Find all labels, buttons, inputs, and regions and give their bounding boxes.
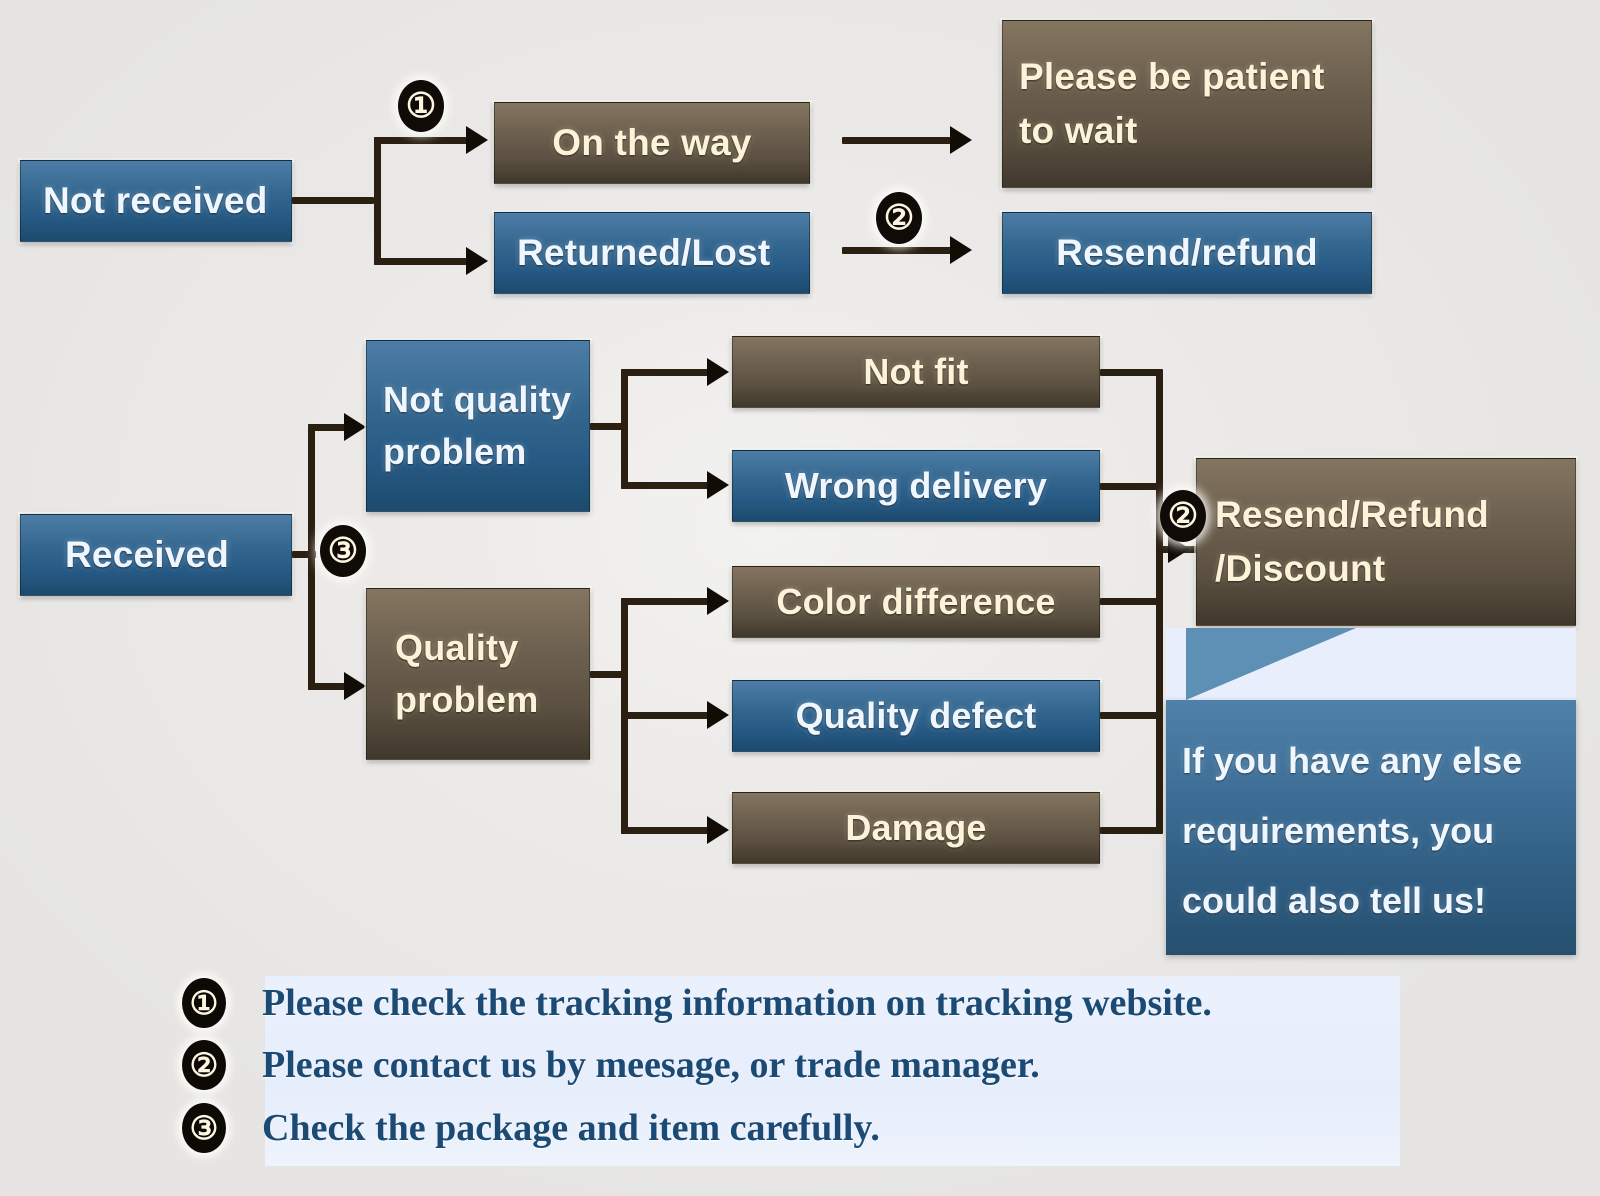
- connector-not-received-stem: [292, 197, 374, 204]
- connector-damage-out: [1100, 827, 1162, 834]
- not-quality-line-1: Not quality: [383, 374, 571, 426]
- callout-line-1: If you have any else: [1182, 726, 1562, 796]
- arrow-to-returned-lost: [466, 247, 488, 275]
- note-badge-1: ①: [182, 978, 226, 1028]
- step-marker-2-top: ②: [876, 192, 922, 244]
- connector-to-on-the-way: [374, 137, 470, 144]
- node-damage[interactable]: Damage: [732, 792, 1100, 864]
- step-marker-3: ③: [320, 525, 366, 577]
- connector-returned-lost-to-result: [842, 247, 954, 254]
- connector-color-difference-out: [1100, 598, 1162, 605]
- arrow-to-quality-defect: [707, 701, 729, 729]
- quality-line-1: Quality: [395, 622, 518, 674]
- callout-line-2: requirements, you: [1182, 796, 1562, 866]
- connector-not-quality-bus: [621, 369, 628, 489]
- node-received[interactable]: Received: [20, 514, 292, 596]
- connector-not-fit-out: [1100, 369, 1162, 376]
- arrow-to-on-the-way: [466, 126, 488, 154]
- note-badge-2: ②: [182, 1040, 226, 1090]
- node-color-difference[interactable]: Color difference: [732, 566, 1100, 638]
- callout-tail-icon: [1186, 628, 1356, 700]
- connector-not-received-bus: [374, 137, 381, 265]
- connector-to-wrong-delivery: [621, 482, 711, 489]
- connector-collector-bus: [1156, 369, 1163, 834]
- arrow-to-not-fit: [707, 358, 729, 386]
- connector-on-the-way-to-result: [842, 137, 954, 144]
- callout-box: If you have any else requirements, you c…: [1166, 700, 1576, 955]
- step-marker-1-top: ①: [398, 80, 444, 132]
- quality-line-2: problem: [395, 674, 538, 726]
- connector-to-not-fit: [621, 369, 711, 376]
- node-not-received[interactable]: Not received: [20, 160, 292, 242]
- connector-to-color-difference: [621, 598, 711, 605]
- not-quality-line-2: problem: [383, 426, 526, 478]
- node-quality-defect[interactable]: Quality defect: [732, 680, 1100, 752]
- node-quality-problem[interactable]: Quality problem: [366, 588, 590, 760]
- patient-line-1: Please be patient: [1019, 50, 1325, 104]
- arrow-to-wrong-delivery: [707, 471, 729, 499]
- callout-line-3: could also tell us!: [1182, 866, 1562, 936]
- node-not-quality-problem[interactable]: Not quality problem: [366, 340, 590, 512]
- outcome-line-2: /Discount: [1215, 542, 1385, 596]
- connector-to-damage: [621, 827, 711, 834]
- node-resend-refund[interactable]: Resend/refund: [1002, 212, 1372, 294]
- connector-wrong-delivery-out: [1100, 483, 1162, 490]
- note-row-2: ② Please contact us by meesage, or trade…: [182, 1040, 1040, 1090]
- outcome-line-1: Resend/Refund: [1215, 488, 1489, 542]
- node-on-the-way[interactable]: On the way: [494, 102, 810, 184]
- note-text-1: Please check the tracking information on…: [262, 981, 1212, 1025]
- node-wrong-delivery[interactable]: Wrong delivery: [732, 450, 1100, 522]
- connector-to-returned-lost: [374, 258, 470, 265]
- note-row-1: ① Please check the tracking information …: [182, 978, 1212, 1028]
- arrow-to-quality: [344, 672, 366, 700]
- flowchart-canvas: Not received ① On the way Returned/Lost …: [0, 0, 1600, 1196]
- node-resend-refund-discount[interactable]: Resend/Refund /Discount: [1196, 458, 1576, 626]
- arrow-to-not-quality: [344, 413, 366, 441]
- note-text-3: Check the package and item carefully.: [262, 1106, 880, 1150]
- arrow-to-damage: [707, 816, 729, 844]
- node-returned-lost[interactable]: Returned/Lost: [494, 212, 810, 294]
- arrow-on-the-way-to-result: [950, 126, 972, 154]
- connector-quality-defect-out: [1100, 712, 1162, 719]
- patient-line-2: to wait: [1019, 104, 1138, 158]
- step-marker-2-bottom: ②: [1160, 490, 1206, 542]
- arrow-to-color-difference: [707, 587, 729, 615]
- node-not-fit[interactable]: Not fit: [732, 336, 1100, 408]
- arrow-returned-lost-to-result: [950, 236, 972, 264]
- note-row-3: ③ Check the package and item carefully.: [182, 1103, 880, 1153]
- note-badge-3: ③: [182, 1103, 226, 1153]
- connector-to-quality-defect: [621, 712, 711, 719]
- connector-received-bus: [308, 424, 315, 690]
- note-text-2: Please contact us by meesage, or trade m…: [262, 1043, 1040, 1087]
- node-please-be-patient[interactable]: Please be patient to wait: [1002, 20, 1372, 188]
